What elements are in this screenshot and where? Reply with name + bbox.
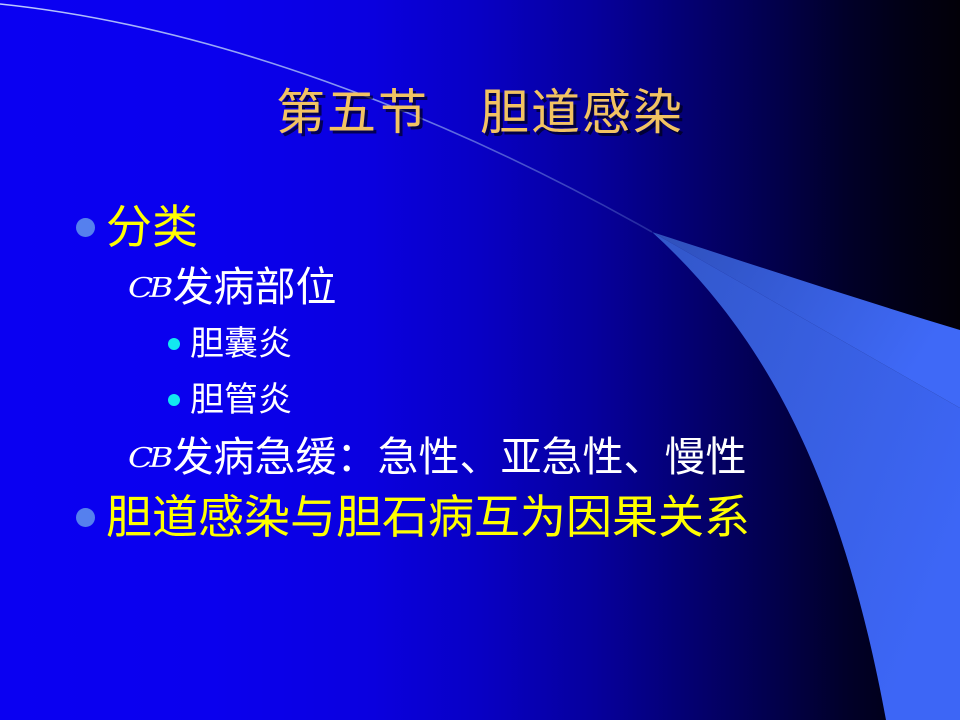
- disc-light-blue-bullet-icon: [76, 218, 95, 237]
- list-item: 分类: [76, 196, 960, 258]
- list-item-label: 胆管炎: [190, 383, 292, 417]
- list-item-label: 分类: [106, 204, 198, 250]
- slide-title-block: 第五节 胆道感染: [0, 88, 960, 137]
- dot-cyan-bullet-icon: [168, 394, 180, 406]
- list-item: 胆道感染与胆石病互为因果关系: [76, 486, 960, 548]
- list-item: 胆囊炎: [168, 316, 960, 372]
- list-item: 胆管炎: [168, 372, 960, 428]
- list-item: CB 发病部位: [128, 258, 960, 316]
- slide-body-list: 分类 CB 发病部位 胆囊炎 胆管炎 CB 发病急缓：急性、亚急性、慢性 胆道感…: [0, 196, 960, 548]
- list-item-label: 发病急缓：急性、亚急性、慢性: [173, 437, 747, 478]
- dot-cyan-bullet-icon: [168, 338, 180, 350]
- list-item-label: 胆道感染与胆石病互为因果关系: [106, 494, 750, 540]
- list-item: CB 发病急缓：急性、亚急性、慢性: [128, 428, 960, 486]
- list-item-label: 胆囊炎: [190, 327, 292, 361]
- presentation-slide: 第五节 胆道感染 分类 CB 发病部位 胆囊炎 胆管炎 CB 发病急缓：急性、亚…: [0, 0, 960, 720]
- cb-swash-bullet-icon: CB: [128, 443, 170, 470]
- disc-light-blue-bullet-icon: [76, 508, 95, 527]
- list-item-label: 发病部位: [173, 267, 337, 308]
- cb-swash-bullet-icon: CB: [128, 273, 170, 300]
- page-title: 第五节 胆道感染: [276, 88, 684, 137]
